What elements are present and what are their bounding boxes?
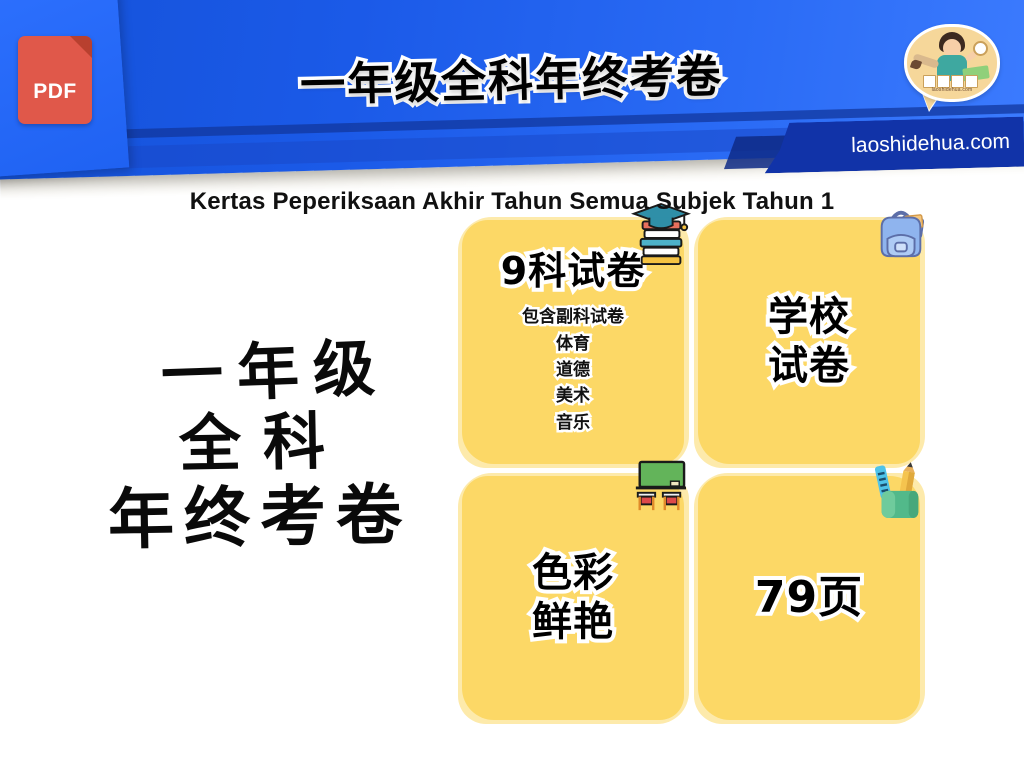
logo-speech-bubble: laoshidehua.com	[904, 24, 1000, 102]
card-school-papers[interactable]: 学校 试卷	[698, 220, 920, 464]
pdf-badge-label: PDF	[18, 80, 92, 104]
calligraphy-block: 一年级 全科 年终考卷	[60, 340, 460, 552]
website-url: laoshidehua.com	[764, 130, 1011, 160]
card-colorful-title-2: 鲜艳	[532, 598, 614, 647]
card-subjects-sub-4: 音乐	[522, 410, 624, 436]
card-colorful[interactable]: 色彩 鲜艳	[462, 476, 684, 720]
card-subjects-sub-2: 道德	[522, 357, 624, 383]
card-subjects-title: 9科试卷	[501, 248, 645, 294]
logo-url-text: laoshidehua.com	[907, 87, 997, 93]
card-subjects-sub-1: 体育	[522, 331, 624, 357]
logo-brush-tip-icon	[910, 59, 922, 71]
card-subjects-sub-3: 美术	[522, 383, 624, 409]
subtitle-malay: Kertas Peperiksaan Akhir Tahun Semua Sub…	[0, 188, 1024, 216]
card-page-count[interactable]: 79页	[698, 476, 920, 720]
card-page-count-title: 79页	[755, 571, 863, 625]
url-ribbon[interactable]: laoshidehua.com	[763, 117, 1024, 174]
logo-bubble-dot-icon	[973, 41, 988, 56]
card-subjects-sublist: 包含副科试卷 体育 道德 美术 音乐	[522, 304, 624, 436]
brand-logo[interactable]: laoshidehua.com	[904, 24, 994, 112]
card-school-papers-title-2: 试卷	[768, 342, 850, 391]
card-school-papers-title-1: 学校	[768, 293, 850, 342]
pencil-cup-icon	[870, 458, 928, 520]
classroom-board-desks-icon	[628, 460, 690, 514]
calligraphy-line-2: 全科	[65, 408, 460, 478]
calligraphy-line-3: 年终考卷	[59, 481, 460, 555]
card-subjects-sub-0: 包含副科试卷	[522, 304, 624, 330]
poster-page: PDF 一年级全科年终考卷 laoshidehua.com la	[0, 0, 1024, 768]
card-subjects[interactable]: 9科试卷 包含副科试卷 体育 道德 美术 音乐	[462, 220, 684, 464]
calligraphy-line-1: 一年级	[89, 334, 461, 410]
feature-card-grid: 9科试卷 包含副科试卷 体育 道德 美术 音乐 学校	[462, 220, 962, 740]
pdf-file-icon[interactable]: PDF	[18, 36, 92, 124]
pdf-corner-fold	[70, 36, 92, 58]
card-colorful-title-1: 色彩	[532, 549, 614, 598]
